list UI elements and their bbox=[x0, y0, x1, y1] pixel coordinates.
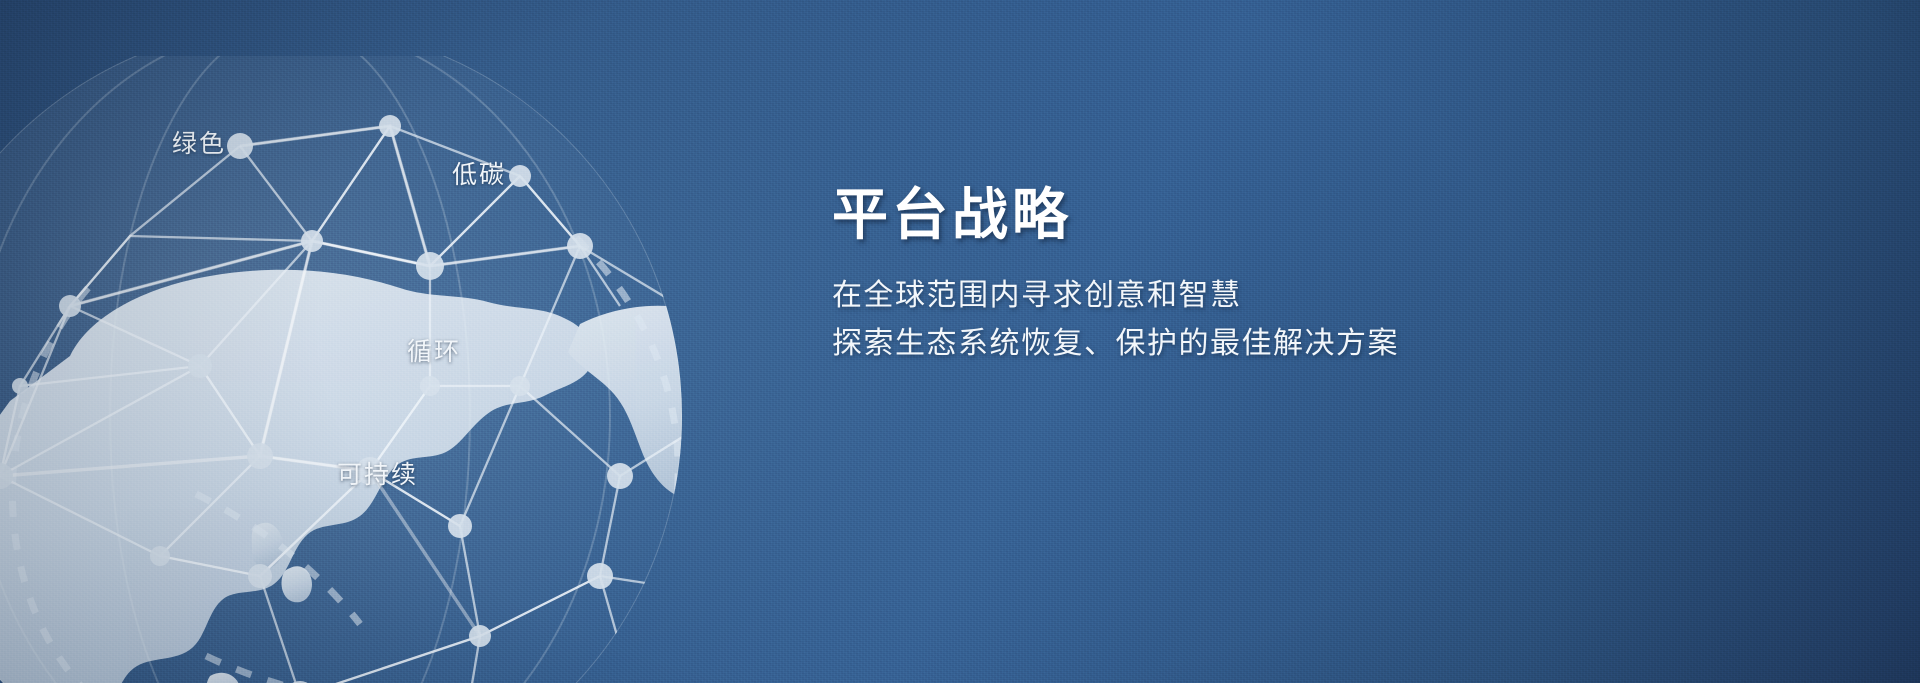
globe-label-sustainable: 可持续 bbox=[337, 455, 418, 491]
globe-label-low-carbon: 低碳 bbox=[452, 155, 506, 191]
page-title: 平台战略 bbox=[832, 185, 1712, 248]
hero-text-block: 平台战略 在全球范围内寻求创意和智慧 探索生态系统恢复、保护的最佳解决方案 bbox=[832, 185, 1712, 369]
globe-network-illustration bbox=[0, 56, 840, 683]
globe-label-green: 绿色 bbox=[172, 124, 226, 160]
subtitle-line-2: 探索生态系统恢复、保护的最佳解决方案 bbox=[832, 320, 1712, 369]
globe-label-circular: 循环 bbox=[407, 332, 461, 368]
hero-banner: 绿色 低碳 循环 可持续 平台战略 在全球范围内寻求创意和智慧 探索生态系统恢复… bbox=[0, 0, 1920, 683]
subtitle-list: 在全球范围内寻求创意和智慧 探索生态系统恢复、保护的最佳解决方案 bbox=[832, 272, 1712, 369]
subtitle-line-1: 在全球范围内寻求创意和智慧 bbox=[832, 272, 1712, 321]
